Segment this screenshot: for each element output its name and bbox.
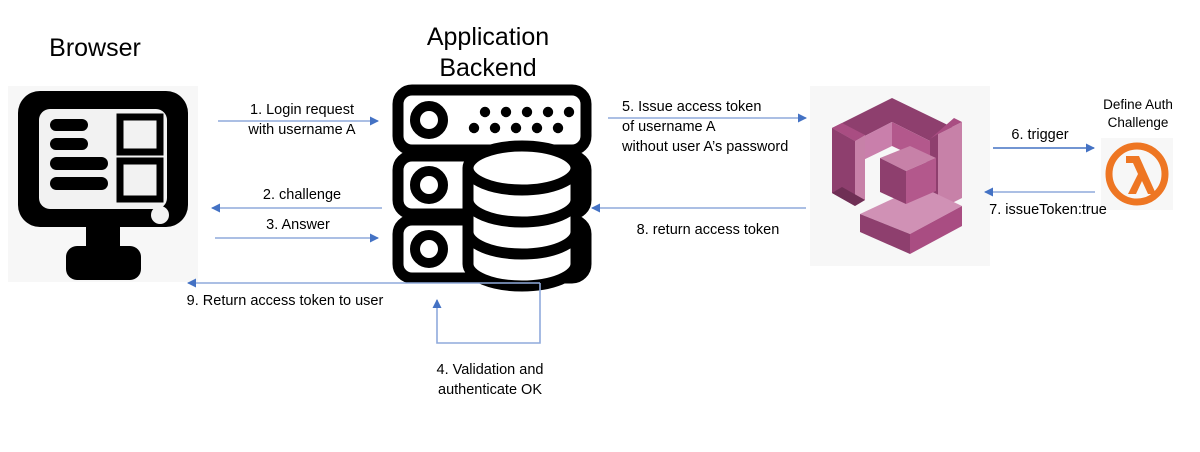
arrow-label-step-3: 3. Answer bbox=[218, 215, 378, 235]
arrows-layer bbox=[0, 0, 1200, 452]
arrow-label-step-2: 2. challenge bbox=[222, 185, 382, 205]
arrow-label-step-1: 1. Login request with username A bbox=[222, 100, 382, 140]
diagram-canvas: Browser Application Backend Define Auth … bbox=[0, 0, 1200, 452]
arrow-step-4 bbox=[437, 283, 540, 343]
arrow-label-step-4: 4. Validation and authenticate OK bbox=[400, 360, 580, 400]
arrow-label-step-8: 8. return access token bbox=[618, 220, 798, 240]
arrow-label-step-7: 7. issueToken:true bbox=[978, 200, 1118, 220]
arrow-label-step-6: 6. trigger bbox=[985, 125, 1095, 145]
arrow-label-step-5: 5. Issue access token of username A with… bbox=[622, 97, 822, 157]
arrow-label-step-9: 9. Return access token to user bbox=[185, 291, 385, 311]
